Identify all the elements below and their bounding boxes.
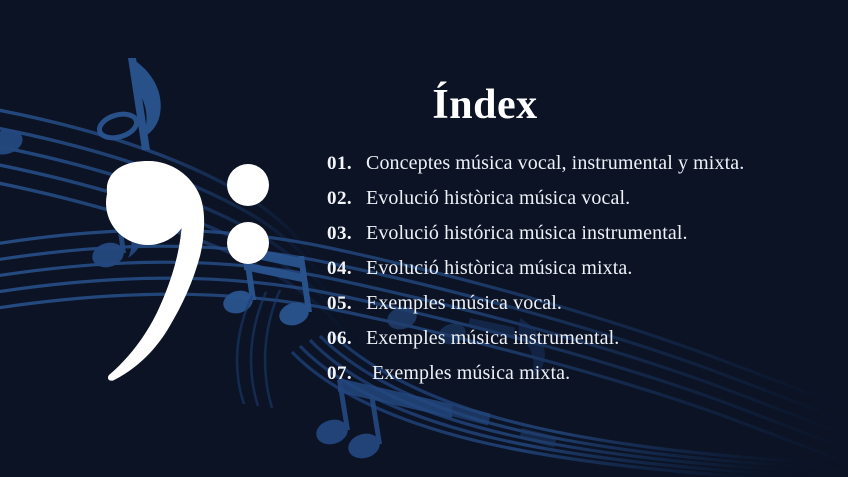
list-item-number: 01.: [300, 153, 352, 175]
list-item[interactable]: 07. Exemples música mixta.: [300, 362, 830, 397]
list-item[interactable]: 03. Evolució histórica música instrument…: [300, 222, 830, 257]
list-item-label: Exemples música vocal.: [352, 292, 562, 315]
list-item-label: Evolució històrica música mixta.: [352, 257, 632, 280]
list-item-label: Exemples música instrumental.: [352, 327, 619, 350]
list-item-number: 03.: [300, 223, 352, 245]
list-item-label: Evolució histórica música instrumental.: [352, 222, 688, 245]
list-item[interactable]: 02. Evolució històrica música vocal.: [300, 187, 830, 222]
list-item-label: Exemples música mixta.: [352, 362, 570, 385]
list-item-number: 04.: [300, 258, 352, 280]
bass-clef-dot-lower: [227, 222, 269, 264]
index-list: 01. Conceptes música vocal, instrumental…: [300, 152, 830, 397]
list-item-number: 07.: [300, 363, 352, 385]
list-item[interactable]: 04. Evolució històrica música mixta.: [300, 257, 830, 292]
list-item-number: 06.: [300, 328, 352, 350]
list-item[interactable]: 01. Conceptes música vocal, instrumental…: [300, 152, 830, 187]
list-item-number: 05.: [300, 293, 352, 315]
page-title: Índex: [0, 83, 848, 127]
bass-clef-dot-upper: [227, 164, 269, 206]
list-item-label: Conceptes música vocal, instrumental y m…: [352, 152, 744, 175]
presentation-slide: Índex 01. Conceptes música vocal, instru…: [0, 0, 848, 477]
list-item-label: Evolució històrica música vocal.: [352, 187, 630, 210]
list-item-number: 02.: [300, 188, 352, 210]
list-item[interactable]: 06. Exemples música instrumental.: [300, 327, 830, 362]
list-item[interactable]: 05. Exemples música vocal.: [300, 292, 830, 327]
